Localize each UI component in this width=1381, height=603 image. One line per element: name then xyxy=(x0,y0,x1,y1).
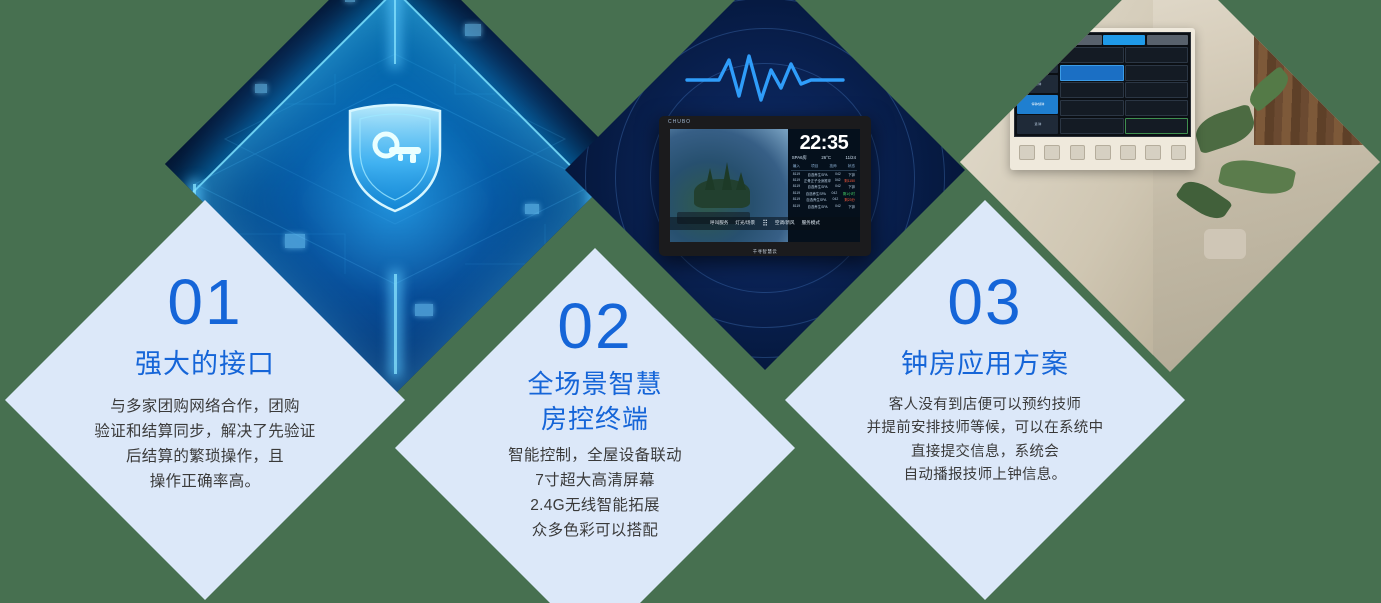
cell-state: 剩23分 xyxy=(844,197,855,202)
cell-item: 自选养生SPA xyxy=(808,184,828,189)
temp-label: 26°C xyxy=(821,155,831,161)
panel-button[interactable] xyxy=(1145,145,1161,159)
diamond-feature-collage: CHUBO 22:35 SPA6房 26°C 11/24 xyxy=(0,0,1381,603)
room-label: SPA6房 xyxy=(792,155,807,161)
panel-tabs xyxy=(1060,35,1188,46)
panel-item-selected[interactable] xyxy=(1060,65,1123,81)
card-02-title-line-1: 全场景智慧 xyxy=(395,368,795,401)
card-01-title: 强大的接口 xyxy=(5,348,405,382)
card-01-body-line: 后结算的繁琐操作，且 xyxy=(5,444,405,469)
cell-tech: 042 xyxy=(835,172,841,177)
card-02-body: 智能控制，全屋设备联动 7寸超大高清屏幕 2.4G无线智能拓展 众多色彩可以搭配 xyxy=(395,443,795,543)
panel-key-call[interactable]: CALL钟 xyxy=(1017,55,1058,74)
card-02-title-line-2: 房控终端 xyxy=(395,403,795,436)
card-01-body-line: 与多家团购网络合作，团购 xyxy=(5,394,405,419)
panel-key-exit[interactable]: 退 钟 xyxy=(1017,115,1058,134)
panel-side-keys: 点 钟 CALL钟 圆 钟 停钟/续钟 退 钟 xyxy=(1017,35,1058,134)
panel-hardware-buttons xyxy=(1014,137,1191,167)
card-03-title: 钟房应用方案 xyxy=(785,348,1185,382)
cell-tech: 042 xyxy=(833,197,839,202)
circuit-chip-5 xyxy=(415,304,433,316)
cell-item: 自选养生SPA xyxy=(808,204,828,209)
cell-item: 自选养生SPA xyxy=(808,172,828,177)
bar-item-call[interactable]: 呼叫服务 xyxy=(710,220,728,226)
screen-bottom-bar: 呼叫服务 灯光/场景 ⠿ 空调/新风 服务模式 xyxy=(670,217,860,230)
cell-tech: 042 xyxy=(832,191,838,196)
card-03-body-line: 自动播报技师上钟信息。 xyxy=(785,464,1185,487)
panel-button[interactable] xyxy=(1095,145,1111,159)
circuit-chip-3 xyxy=(525,204,539,214)
panel-column-left xyxy=(1060,47,1123,134)
panel-item[interactable] xyxy=(1125,82,1188,98)
th-1: 项目 xyxy=(811,164,818,169)
tree-3 xyxy=(736,172,746,190)
panel-item[interactable] xyxy=(1060,47,1123,63)
cell-tech: 042 xyxy=(835,184,841,189)
panel-button[interactable] xyxy=(1070,145,1086,159)
card-03-body-line: 客人没有到店便可以预约技师 xyxy=(785,394,1185,417)
table-row: 8119 自选养生SPA 042 下钟 xyxy=(791,203,857,209)
circuit-chip-6 xyxy=(345,0,355,2)
shield-lock-icon xyxy=(340,95,450,215)
cell-id: 8119 xyxy=(793,178,800,183)
panel-tab-serving[interactable] xyxy=(1103,35,1145,46)
cell-tech: 042 xyxy=(835,178,841,183)
cell-id: 8119 xyxy=(793,184,800,189)
tree-1 xyxy=(705,168,715,190)
panel-tab-idle[interactable] xyxy=(1147,35,1189,46)
cell-item: 自选养生SPA xyxy=(806,191,826,196)
date-label: 11/24 xyxy=(846,155,856,161)
panel-item[interactable] xyxy=(1060,100,1123,116)
panel-column-right xyxy=(1125,47,1188,134)
card-01-body-line: 验证和结算同步，解决了先验证 xyxy=(5,419,405,444)
panel-tab-call[interactable] xyxy=(1060,35,1102,46)
card-03-body-line: 并提前安排技师等候，可以在系统中 xyxy=(785,417,1185,440)
cell-item: 正骨正子全身推拿 xyxy=(804,178,831,183)
tablet-screen: 22:35 SPA6房 26°C 11/24 编入 项目 技师 状态 xyxy=(670,129,860,242)
panel-item[interactable] xyxy=(1125,100,1188,116)
clock-meta-row: SPA6房 26°C 11/24 xyxy=(791,155,857,161)
clock-display: 22:35 xyxy=(791,133,857,153)
cell-id: 8119 xyxy=(793,191,800,196)
card-03-body: 客人没有到店便可以预约技师 并提前安排技师等候，可以在系统中 直接提交信息，系统… xyxy=(785,394,1185,488)
plant-pot xyxy=(1204,229,1246,259)
circuit-chip-4 xyxy=(255,84,267,93)
panel-item[interactable] xyxy=(1125,65,1188,81)
circuit-chip-2 xyxy=(285,234,305,248)
tablet-device: CHUBO 22:35 SPA6房 26°C 11/24 xyxy=(659,116,871,256)
card-01-body-line: 操作正确率高。 xyxy=(5,469,405,494)
bar-item-air[interactable]: 空调/新风 xyxy=(775,220,795,226)
cell-item: 自选养生SPA xyxy=(806,197,826,202)
cell-state: 剩1小时 xyxy=(843,191,855,196)
cell-state: 下钟 xyxy=(848,184,855,189)
panel-item-grid xyxy=(1060,47,1188,134)
cell-state: 下钟 xyxy=(848,172,855,177)
panel-key-pause[interactable]: 停钟/续钟 xyxy=(1017,95,1058,114)
cell-id: 8119 xyxy=(793,204,800,209)
light-beam-top xyxy=(394,0,396,64)
th-2: 技师 xyxy=(829,164,836,169)
th-0: 编入 xyxy=(793,164,800,169)
card-02-body-line: 2.4G无线智能拓展 xyxy=(395,493,795,518)
panel-item[interactable] xyxy=(1060,118,1123,134)
cell-state: 下钟 xyxy=(848,204,855,209)
bar-item-mode[interactable]: 服务模式 xyxy=(802,220,820,226)
panel-main-area xyxy=(1058,35,1188,134)
tree-2 xyxy=(722,162,732,190)
card-03-body-line: 直接提交信息，系统会 xyxy=(785,441,1185,464)
card-02-body-line: 智能控制，全屋设备联动 xyxy=(395,443,795,468)
panel-button[interactable] xyxy=(1120,145,1136,159)
card-01-body: 与多家团购网络合作，团购 验证和结算同步，解决了先验证 后结算的繁琐操作，且 操… xyxy=(5,394,405,494)
cell-id: 8119 xyxy=(793,197,800,202)
cell-state: 剩1150 xyxy=(844,178,855,183)
panel-key-point[interactable]: 点 钟 xyxy=(1017,35,1058,54)
service-table: 编入 项目 技师 状态 8119 自选养生SPA 042 下钟 8119 xyxy=(791,164,857,209)
cell-tech: 042 xyxy=(835,204,841,209)
tablet-logo-label: 千寻智慧云 xyxy=(659,249,871,255)
panel-button[interactable] xyxy=(1019,145,1035,159)
heartbeat-pulse-icon xyxy=(685,50,845,108)
panel-button[interactable] xyxy=(1171,145,1187,159)
bar-item-light[interactable]: 灯光/场景 xyxy=(735,220,755,226)
panel-key-round[interactable]: 圆 钟 xyxy=(1017,75,1058,94)
panel-screen: 点 钟 CALL钟 圆 钟 停钟/续钟 退 钟 xyxy=(1014,32,1191,137)
cell-id: 8119 xyxy=(793,172,800,177)
service-table-header: 编入 项目 技师 状态 xyxy=(791,164,857,171)
wall-control-panel[interactable]: 点 钟 CALL钟 圆 钟 停钟/续钟 退 钟 xyxy=(1010,28,1195,171)
light-beam-center xyxy=(394,274,397,374)
apps-grid-icon[interactable]: ⠿ xyxy=(762,219,768,228)
panel-item-more[interactable] xyxy=(1125,118,1188,134)
panel-item[interactable] xyxy=(1125,47,1188,63)
circuit-chip-1 xyxy=(465,24,481,36)
tablet-brand-label: CHUBO xyxy=(668,119,691,125)
panel-item[interactable] xyxy=(1060,82,1123,98)
card-02-body-line: 7寸超大高清屏幕 xyxy=(395,468,795,493)
th-3: 状态 xyxy=(848,164,855,169)
panel-button[interactable] xyxy=(1044,145,1060,159)
card-02-body-line: 众多色彩可以搭配 xyxy=(395,518,795,543)
